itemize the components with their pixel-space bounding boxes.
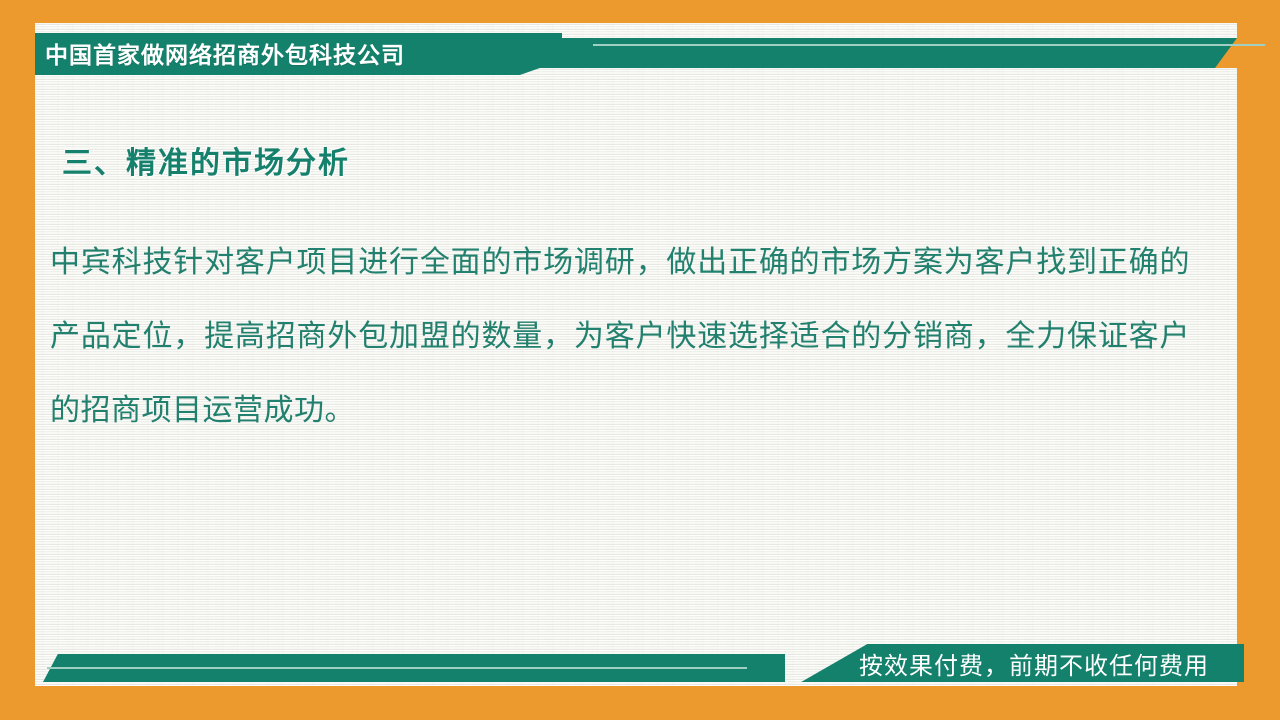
body-paragraph: 中宾科技针对客户项目进行全面的市场调研，做出正确的市场方案为客户找到正确的产品定… [50,226,1190,448]
header-banner-hairline [593,44,1265,46]
header-banner-title: 中国首家做网络招商外包科技公司 [45,40,525,70]
header-banner-block-right [535,38,1237,68]
footer-tagline: 按效果付费，前期不收任何费用 [824,652,1244,682]
footer-banner-hairline [47,667,747,669]
presentation-slide: 中国首家做网络招商外包科技公司 三、精准的市场分析 中宾科技针对客户项目进行全面… [0,0,1280,720]
section-heading: 三、精准的市场分析 [62,138,350,182]
footer-banner-block-right: 按效果付费，前期不收任何费用 [735,644,1244,682]
footer-banner: 按效果付费，前期不收任何费用 [35,640,1244,686]
